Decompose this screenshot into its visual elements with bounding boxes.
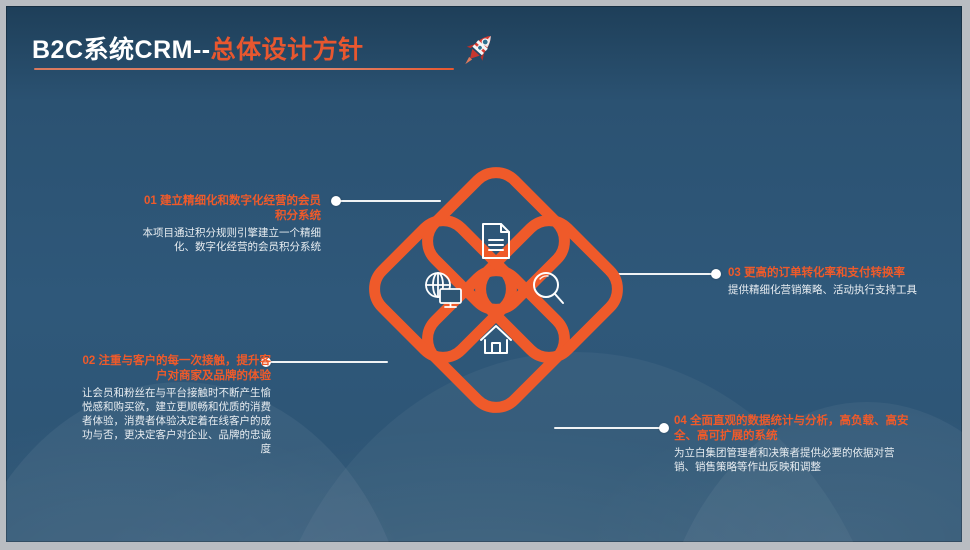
connector-dot-04 (659, 423, 669, 433)
feature-body-03: 提供精细化营销策略、活动执行支持工具 (728, 283, 943, 297)
rocket-icon (458, 28, 498, 72)
slide-canvas: B2C系统CRM--总体设计方针 (6, 6, 962, 542)
feature-block-02: 02 注重与客户的每一次接触，提升客户对商家及品牌的体验 让会员和粉丝在与平台接… (76, 354, 271, 456)
connector-dot-01 (331, 196, 341, 206)
page-title: B2C系统CRM--总体设计方针 (32, 30, 364, 66)
title-underline (34, 68, 454, 70)
page-title-accent: 总体设计方针 (211, 36, 364, 64)
page-title-main: B2C系统CRM-- (32, 36, 211, 64)
feature-body-02: 让会员和粉丝在与平台接触时不断产生愉悦感和购买欲，建立更顺畅和优质的消费者体验，… (76, 386, 271, 456)
feature-block-01: 01 建立精细化和数字化经营的会员积分系统 本项目通过积分规则引擎建立一个精细化… (136, 194, 321, 254)
feature-heading-01: 01 建立精细化和数字化经营的会员积分系统 (136, 194, 321, 224)
slide-header: B2C系统CRM--总体设计方针 (6, 6, 962, 90)
feature-body-01: 本项目通过积分规则引擎建立一个精细化、数字化经营的会员积分系统 (136, 226, 321, 254)
feature-body-04: 为立白集团管理者和决策者提供必要的依据对营销、销售策略等作出反映和调整 (674, 446, 909, 474)
connector-dot-03 (711, 269, 721, 279)
feature-block-03: 03 更高的订单转化率和支付转换率 提供精细化营销策略、活动执行支持工具 (728, 266, 943, 297)
four-petal-diamond-diagram (361, 171, 631, 431)
petal-bottom (417, 260, 575, 418)
feature-heading-03: 03 更高的订单转化率和支付转换率 (728, 266, 943, 281)
petal-right (470, 210, 628, 368)
presentation-viewer: B2C系统CRM--总体设计方针 (0, 0, 970, 550)
feature-heading-04: 04 全面直观的数据统计与分析，高负载、高安全、高可扩展的系统 (674, 414, 909, 444)
feature-heading-02: 02 注重与客户的每一次接触，提升客户对商家及品牌的体验 (76, 354, 271, 384)
feature-block-04: 04 全面直观的数据统计与分析，高负载、高安全、高可扩展的系统 为立白集团管理者… (674, 414, 909, 474)
